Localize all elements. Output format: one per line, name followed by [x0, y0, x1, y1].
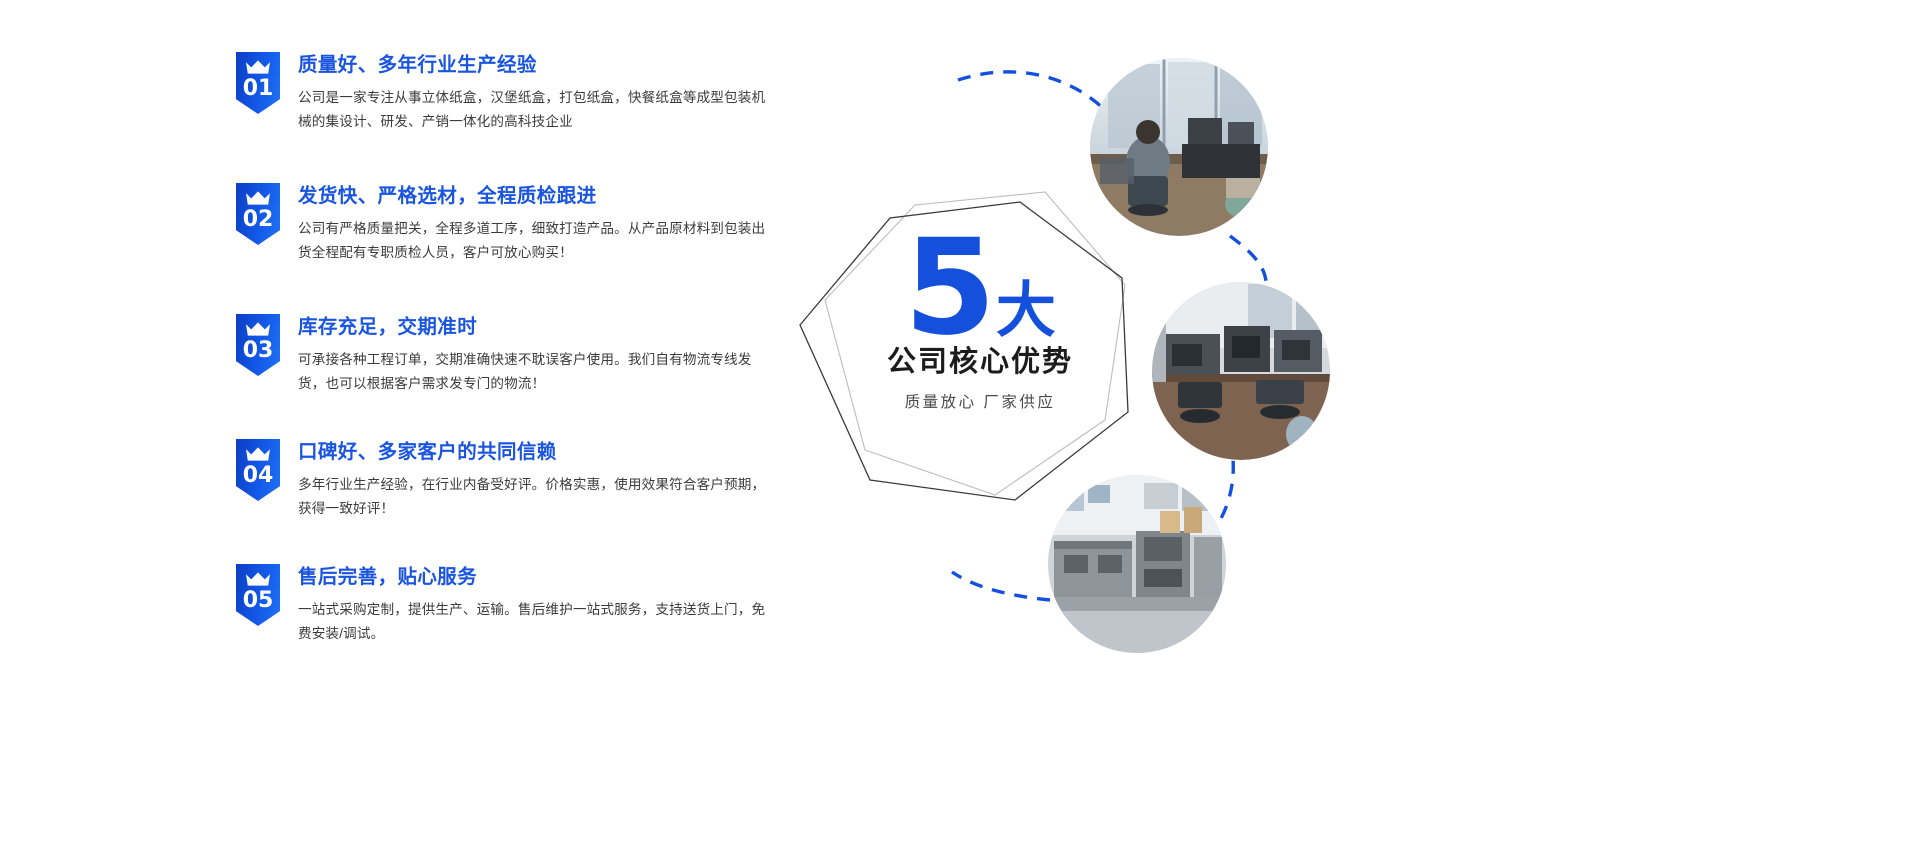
badge-number: 01 [243, 78, 274, 100]
crown-icon [245, 446, 271, 462]
office-desks-photo [1152, 282, 1330, 460]
advantage-title: 口碑好、多家客户的共同信赖 [298, 440, 776, 464]
advantage-item-02[interactable]: 02 发货快、严格选材，全程质检跟进 公司有严格质量把关，全程多道工序，细致打造… [236, 183, 776, 264]
advantage-item-05[interactable]: 05 售后完善，贴心服务 一站式采购定制，提供生产、运输。售后维护一站式服务，支… [236, 564, 776, 645]
advantage-title: 库存充足，交期准时 [298, 315, 776, 339]
advantage-description: 公司有严格质量把关，全程多道工序，细致打造产品。从产品原材料到包装出货全程配有专… [298, 217, 768, 264]
crown-icon [245, 190, 271, 206]
advantage-body: 售后完善，贴心服务 一站式采购定制，提供生产、运输。售后维护一站式服务，支持送货… [298, 564, 776, 645]
crown-icon [245, 321, 271, 337]
badge-02: 02 [236, 183, 280, 245]
advantage-description: 可承接各种工程订单，交期准确快速不耽误客户使用。我们自有物流专线发货，也可以根据… [298, 348, 768, 395]
badge-04: 04 [236, 439, 280, 501]
advantage-body: 库存充足，交期准时 可承接各种工程订单，交期准确快速不耽误客户使用。我们自有物流… [298, 314, 776, 395]
advantage-description: 公司是一家专注从事立体纸盒，汉堡纸盒，打包纸盒，快餐纸盒等成型包装机械的集设计、… [298, 86, 768, 133]
advantage-item-04[interactable]: 04 口碑好、多家客户的共同信赖 多年行业生产经验，在行业内备受好评。价格实惠，… [236, 439, 776, 520]
advantage-body: 发货快、严格选材，全程质检跟进 公司有严格质量把关，全程多道工序，细致打造产品。… [298, 183, 776, 264]
badge-05: 05 [236, 564, 280, 626]
factory-machine-photo [1048, 475, 1226, 653]
advantage-title: 售后完善，贴心服务 [298, 565, 776, 589]
dashed-curve-top [958, 72, 1116, 122]
advantage-title: 发货快、严格选材，全程质检跟进 [298, 184, 776, 208]
advantage-list: 01 质量好、多年行业生产经验 公司是一家专注从事立体纸盒，汉堡纸盒，打包纸盒，… [236, 52, 776, 652]
advantage-description: 一站式采购定制，提供生产、运输。售后维护一站式服务，支持送货上门，免费安装/调试… [298, 598, 768, 645]
advantage-description: 多年行业生产经验，在行业内备受好评。价格实惠，使用效果符合客户预期，获得一致好评… [298, 473, 768, 520]
photo-cluster [930, 40, 1370, 650]
advantage-item-01[interactable]: 01 质量好、多年行业生产经验 公司是一家专注从事立体纸盒，汉堡纸盒，打包纸盒，… [236, 52, 776, 133]
dashed-curve-bottom [952, 572, 1050, 600]
badge-03: 03 [236, 314, 280, 376]
badge-number: 05 [243, 590, 274, 612]
crown-icon [245, 59, 271, 75]
advantage-title: 质量好、多年行业生产经验 [298, 53, 776, 77]
badge-01: 01 [236, 52, 280, 114]
badge-number: 02 [243, 209, 274, 231]
badge-number: 04 [243, 465, 274, 487]
badge-number: 03 [243, 340, 274, 362]
advantage-body: 质量好、多年行业生产经验 公司是一家专注从事立体纸盒，汉堡纸盒，打包纸盒，快餐纸… [298, 52, 776, 133]
advantages-section: 01 质量好、多年行业生产经验 公司是一家专注从事立体纸盒，汉堡纸盒，打包纸盒，… [0, 0, 1920, 847]
advantage-item-03[interactable]: 03 库存充足，交期准时 可承接各种工程订单，交期准确快速不耽误客户使用。我们自… [236, 314, 776, 395]
crown-icon [245, 571, 271, 587]
office-workstation-photo [1090, 58, 1268, 236]
advantage-body: 口碑好、多家客户的共同信赖 多年行业生产经验，在行业内备受好评。价格实惠，使用效… [298, 439, 776, 520]
